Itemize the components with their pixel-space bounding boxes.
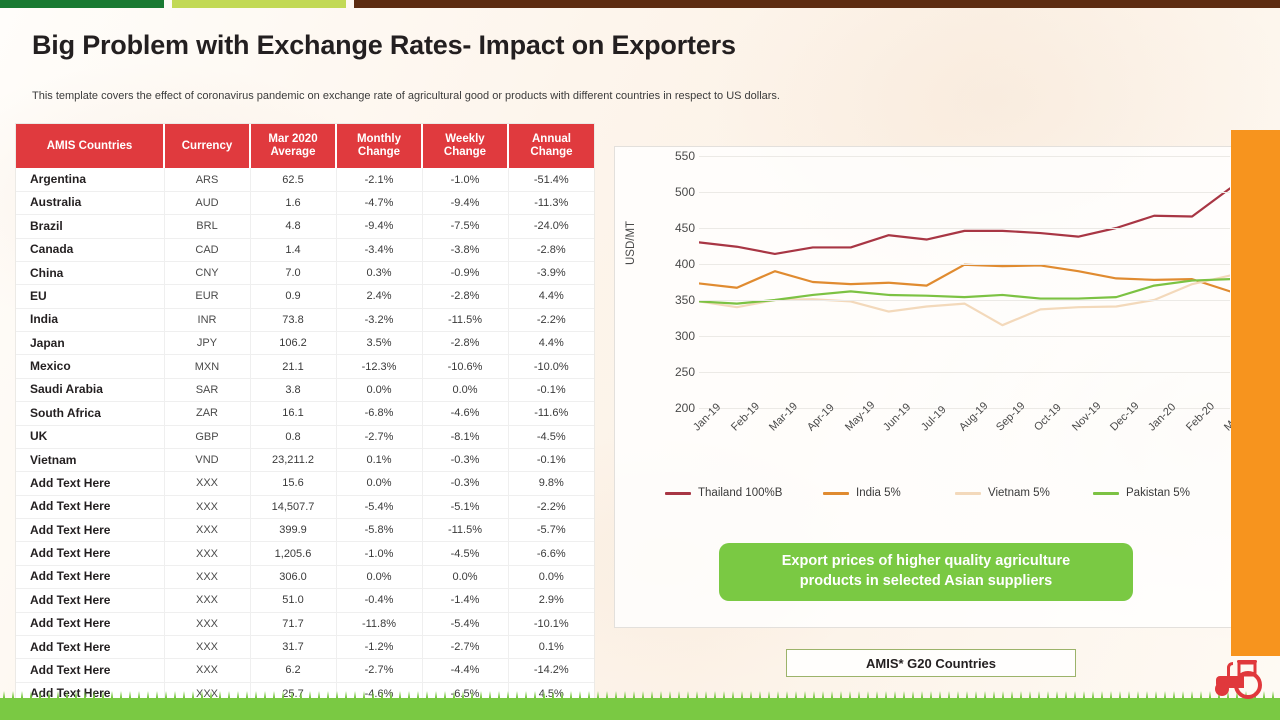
cell-monthly-change: 3.5% [336,332,422,355]
table-row: Add Text HereXXX14,507.7-5.4%-5.1%-2.2% [16,495,594,518]
cell-annual-change: 0.0% [508,565,594,588]
cell-annual-change: -10.1% [508,612,594,635]
cell-weekly-change: -4.5% [422,542,508,565]
cell-country: Add Text Here [16,542,164,565]
cell-weekly-change: -2.8% [422,285,508,308]
cell-average: 1.6 [250,191,336,214]
cell-annual-change: -0.1% [508,378,594,401]
cell-currency: CNY [164,261,250,284]
cell-weekly-change: -4.6% [422,402,508,425]
cell-weekly-change: -11.5% [422,519,508,542]
cell-monthly-change: -12.3% [336,355,422,378]
cell-currency: VND [164,448,250,471]
cell-average: 4.8 [250,215,336,238]
legend-swatch-icon [665,492,691,495]
gridline-1 [699,192,1230,193]
cell-country: Add Text Here [16,472,164,495]
cell-average: 15.6 [250,472,336,495]
cell-currency: CAD [164,238,250,261]
cell-weekly-change: 0.0% [422,565,508,588]
cell-monthly-change: 0.0% [336,378,422,401]
cell-country: Brazil [16,215,164,238]
cell-currency: XXX [164,472,250,495]
table-column-header-2: Mar 2020Average [250,124,336,168]
cell-currency: XXX [164,635,250,658]
cell-average: 73.8 [250,308,336,331]
cell-weekly-change: -1.4% [422,589,508,612]
top-decorative-bar [0,0,1280,8]
chart-plot-area [699,147,1230,417]
cell-country: Saudi Arabia [16,378,164,401]
y-tick-label-3: 400 [649,257,695,271]
table-column-header-1: Currency [164,124,250,168]
cell-currency: XXX [164,495,250,518]
cell-currency: EUR [164,285,250,308]
cell-monthly-change: -4.7% [336,191,422,214]
cell-average: 62.5 [250,168,336,191]
cell-monthly-change: 0.1% [336,448,422,471]
cell-country: EU [16,285,164,308]
top-bar-lime-segment [172,0,346,8]
cell-currency: GBP [164,425,250,448]
cell-average: 23,211.2 [250,448,336,471]
cell-average: 1,205.6 [250,542,336,565]
cell-weekly-change: -0.9% [422,261,508,284]
y-tick-label-0: 550 [649,149,695,163]
gridline-0 [699,156,1230,157]
legend-swatch-icon [823,492,849,495]
cell-annual-change: 4.4% [508,285,594,308]
chart-series-svg [699,147,1230,417]
table-row: CanadaCAD1.4-3.4%-3.8%-2.8% [16,238,594,261]
legend-label: India 5% [856,487,901,499]
cell-average: 6.2 [250,659,336,682]
table-row: South AfricaZAR16.1-6.8%-4.6%-11.6% [16,402,594,425]
cell-country: Add Text Here [16,565,164,588]
right-orange-accent-bar [1231,130,1280,656]
table-row: AustraliaAUD1.6-4.7%-9.4%-11.3% [16,191,594,214]
cell-country: South Africa [16,402,164,425]
y-tick-label-6: 250 [649,365,695,379]
header-line: AMIS Countries [47,140,133,152]
y-tick-label-7: 200 [649,401,695,415]
table-row: Add Text HereXXX399.9-5.8%-11.5%-5.7% [16,519,594,542]
cell-country: Add Text Here [16,519,164,542]
table-row: Add Text HereXXX31.7-1.2%-2.7%0.1% [16,635,594,658]
header-line: Annual [532,133,571,145]
cell-country: Add Text Here [16,589,164,612]
cell-annual-change: -2.2% [508,308,594,331]
cell-annual-change: -11.3% [508,191,594,214]
cell-average: 106.2 [250,332,336,355]
table-row: Saudi ArabiaSAR3.80.0%0.0%-0.1% [16,378,594,401]
cell-monthly-change: 0.3% [336,261,422,284]
cell-average: 16.1 [250,402,336,425]
y-tick-label-5: 300 [649,329,695,343]
gridline-3 [699,264,1230,265]
cell-weekly-change: -0.3% [422,448,508,471]
exchange-rate-table: AMIS CountriesCurrencyMar 2020AverageMon… [16,124,594,706]
cell-weekly-change: 0.0% [422,378,508,401]
cell-average: 7.0 [250,261,336,284]
header-line: Monthly [357,133,401,145]
tractor-icon [1210,654,1266,702]
table-row: IndiaINR73.8-3.2%-11.5%-2.2% [16,308,594,331]
cell-currency: MXN [164,355,250,378]
callout-line-1: Export prices of higher quality agricult… [782,553,1070,569]
cell-weekly-change: -2.8% [422,332,508,355]
table-row: MexicoMXN21.1-12.3%-10.6%-10.0% [16,355,594,378]
cell-country: Add Text Here [16,635,164,658]
table-header: AMIS CountriesCurrencyMar 2020AverageMon… [16,124,594,168]
chart-legend: Thailand 100%BIndia 5%Vietnam 5%Pakistan… [665,485,1225,501]
table-row: Add Text HereXXX51.0-0.4%-1.4%2.9% [16,589,594,612]
chart-x-axis-labels: Jan-19Feb-19Mar-19Apr-19May-19Jun-19Jul-… [699,419,1230,475]
cell-weekly-change: -7.5% [422,215,508,238]
amis-caption-box: AMIS* G20 Countries [786,649,1076,677]
y-tick-label-2: 450 [649,221,695,235]
amis-caption-text: AMIS* G20 Countries [866,656,996,671]
cell-annual-change: -6.6% [508,542,594,565]
cell-weekly-change: -2.7% [422,635,508,658]
cell-annual-change: -2.8% [508,238,594,261]
table-row: EUEUR0.92.4%-2.8%4.4% [16,285,594,308]
cell-average: 71.7 [250,612,336,635]
header-line: Currency [182,140,233,152]
cell-country: Vietnam [16,448,164,471]
table-row: UKGBP0.8-2.7%-8.1%-4.5% [16,425,594,448]
cell-annual-change: -5.7% [508,519,594,542]
cell-annual-change: -51.4% [508,168,594,191]
legend-swatch-icon [955,492,981,495]
cell-weekly-change: -9.4% [422,191,508,214]
cell-currency: XXX [164,542,250,565]
gridline-2 [699,228,1230,229]
cell-monthly-change: -6.8% [336,402,422,425]
gridline-6 [699,372,1230,373]
cell-currency: ARS [164,168,250,191]
cell-weekly-change: -5.4% [422,612,508,635]
cell-annual-change: -2.2% [508,495,594,518]
cell-average: 306.0 [250,565,336,588]
cell-annual-change: 0.1% [508,635,594,658]
chart-line-0 [699,188,1230,254]
table-row: Add Text HereXXX71.7-11.8%-5.4%-10.1% [16,612,594,635]
cell-country: Canada [16,238,164,261]
top-bar-gap [164,0,172,8]
cell-annual-change: 2.9% [508,589,594,612]
callout-line-2: products in selected Asian suppliers [800,573,1052,589]
legend-item-1[interactable]: India 5% [823,487,901,499]
cell-monthly-change: -1.0% [336,542,422,565]
cell-average: 399.9 [250,519,336,542]
callout-text: Export prices of higher quality agricult… [782,552,1070,591]
cell-weekly-change: -0.3% [422,472,508,495]
page-subtitle: This template covers the effect of coron… [32,90,780,102]
cell-average: 0.9 [250,285,336,308]
table-row: VietnamVND23,211.20.1%-0.3%-0.1% [16,448,594,471]
cell-country: Mexico [16,355,164,378]
header-line: Weekly [445,133,484,145]
table-column-header-0: AMIS Countries [16,124,164,168]
cell-country: India [16,308,164,331]
cell-weekly-change: -11.5% [422,308,508,331]
top-bar-gap-2 [346,0,354,8]
cell-monthly-change: -5.4% [336,495,422,518]
table-column-header-3: MonthlyChange [336,124,422,168]
cell-monthly-change: 0.0% [336,472,422,495]
cell-annual-change: -3.9% [508,261,594,284]
cell-annual-change: 4.4% [508,332,594,355]
cell-annual-change: -24.0% [508,215,594,238]
header-line: Change [530,146,572,158]
gridline-4 [699,300,1230,301]
cell-monthly-change: -1.2% [336,635,422,658]
cell-annual-change: -11.6% [508,402,594,425]
cell-country: Argentina [16,168,164,191]
cell-monthly-change: -3.4% [336,238,422,261]
cell-currency: SAR [164,378,250,401]
cell-country: Australia [16,191,164,214]
table-column-header-4: WeeklyChange [422,124,508,168]
legend-label: Vietnam 5% [988,487,1050,499]
cell-annual-change: -10.0% [508,355,594,378]
cell-monthly-change: -0.4% [336,589,422,612]
cell-monthly-change: 2.4% [336,285,422,308]
chart-y-axis-label: USD/MT [625,221,637,265]
header-line: Average [271,146,316,158]
cell-currency: XXX [164,659,250,682]
cell-average: 0.8 [250,425,336,448]
legend-item-3[interactable]: Pakistan 5% [1093,487,1190,499]
cell-weekly-change: -4.4% [422,659,508,682]
header-line: Change [444,146,486,158]
cell-currency: ZAR [164,402,250,425]
exchange-rate-table-container: AMIS CountriesCurrencyMar 2020AverageMon… [16,124,594,706]
cell-weekly-change: -5.1% [422,495,508,518]
legend-item-0[interactable]: Thailand 100%B [665,487,782,499]
legend-item-2[interactable]: Vietnam 5% [955,487,1050,499]
cell-monthly-change: -5.8% [336,519,422,542]
top-bar-brown-segment [354,0,1280,8]
callout-box: Export prices of higher quality agricult… [719,543,1133,601]
table-row: ArgentinaARS62.5-2.1%-1.0%-51.4% [16,168,594,191]
y-tick-label-4: 350 [649,293,695,307]
cell-average: 21.1 [250,355,336,378]
cell-annual-change: -14.2% [508,659,594,682]
chart-y-axis-ticks: 550500450400350300250200 [643,147,695,417]
cell-currency: BRL [164,215,250,238]
line-chart: USD/MT 550500450400350300250200 Jan-19Fe… [615,147,1240,447]
table-row: Add Text HereXXX6.2-2.7%-4.4%-14.2% [16,659,594,682]
cell-monthly-change: -11.8% [336,612,422,635]
table-row: JapanJPY106.23.5%-2.8%4.4% [16,332,594,355]
cell-average: 51.0 [250,589,336,612]
cell-annual-change: -0.1% [508,448,594,471]
table-row: Add Text HereXXX15.60.0%-0.3%9.8% [16,472,594,495]
y-tick-label-1: 500 [649,185,695,199]
cell-annual-change: 9.8% [508,472,594,495]
cell-monthly-change: -2.1% [336,168,422,191]
table-row: ChinaCNY7.00.3%-0.9%-3.9% [16,261,594,284]
cell-average: 31.7 [250,635,336,658]
cell-country: Japan [16,332,164,355]
cell-country: China [16,261,164,284]
legend-label: Pakistan 5% [1126,487,1190,499]
cell-monthly-change: -2.7% [336,659,422,682]
cell-weekly-change: -10.6% [422,355,508,378]
cell-currency: AUD [164,191,250,214]
cell-country: Add Text Here [16,495,164,518]
table-column-header-5: AnnualChange [508,124,594,168]
top-bar-green-segment [0,0,164,8]
table-body: ArgentinaARS62.5-2.1%-1.0%-51.4%Australi… [16,168,594,705]
cell-weekly-change: -8.1% [422,425,508,448]
page-title: Big Problem with Exchange Rates- Impact … [32,30,736,61]
cell-country: UK [16,425,164,448]
cell-monthly-change: 0.0% [336,565,422,588]
table-row: Add Text HereXXX1,205.6-1.0%-4.5%-6.6% [16,542,594,565]
cell-weekly-change: -1.0% [422,168,508,191]
cell-country: Add Text Here [16,612,164,635]
legend-label: Thailand 100%B [698,487,782,499]
grass-strip [0,698,1280,720]
cell-country: Add Text Here [16,659,164,682]
cell-monthly-change: -9.4% [336,215,422,238]
cell-average: 1.4 [250,238,336,261]
table-header-row: AMIS CountriesCurrencyMar 2020AverageMon… [16,124,594,168]
cell-currency: XXX [164,565,250,588]
cell-currency: XXX [164,589,250,612]
table-row: Add Text HereXXX306.00.0%0.0%0.0% [16,565,594,588]
cell-average: 3.8 [250,378,336,401]
header-line: Change [358,146,400,158]
cell-currency: XXX [164,519,250,542]
legend-swatch-icon [1093,492,1119,495]
cell-annual-change: -4.5% [508,425,594,448]
header-line: Mar 2020 [268,133,317,145]
table-row: BrazilBRL4.8-9.4%-7.5%-24.0% [16,215,594,238]
gridline-7 [699,408,1230,409]
cell-monthly-change: -2.7% [336,425,422,448]
cell-currency: JPY [164,332,250,355]
chart-panel: USD/MT 550500450400350300250200 Jan-19Fe… [614,146,1239,628]
gridline-5 [699,336,1230,337]
cell-average: 14,507.7 [250,495,336,518]
cell-monthly-change: -3.2% [336,308,422,331]
cell-weekly-change: -3.8% [422,238,508,261]
cell-currency: XXX [164,612,250,635]
cell-currency: INR [164,308,250,331]
